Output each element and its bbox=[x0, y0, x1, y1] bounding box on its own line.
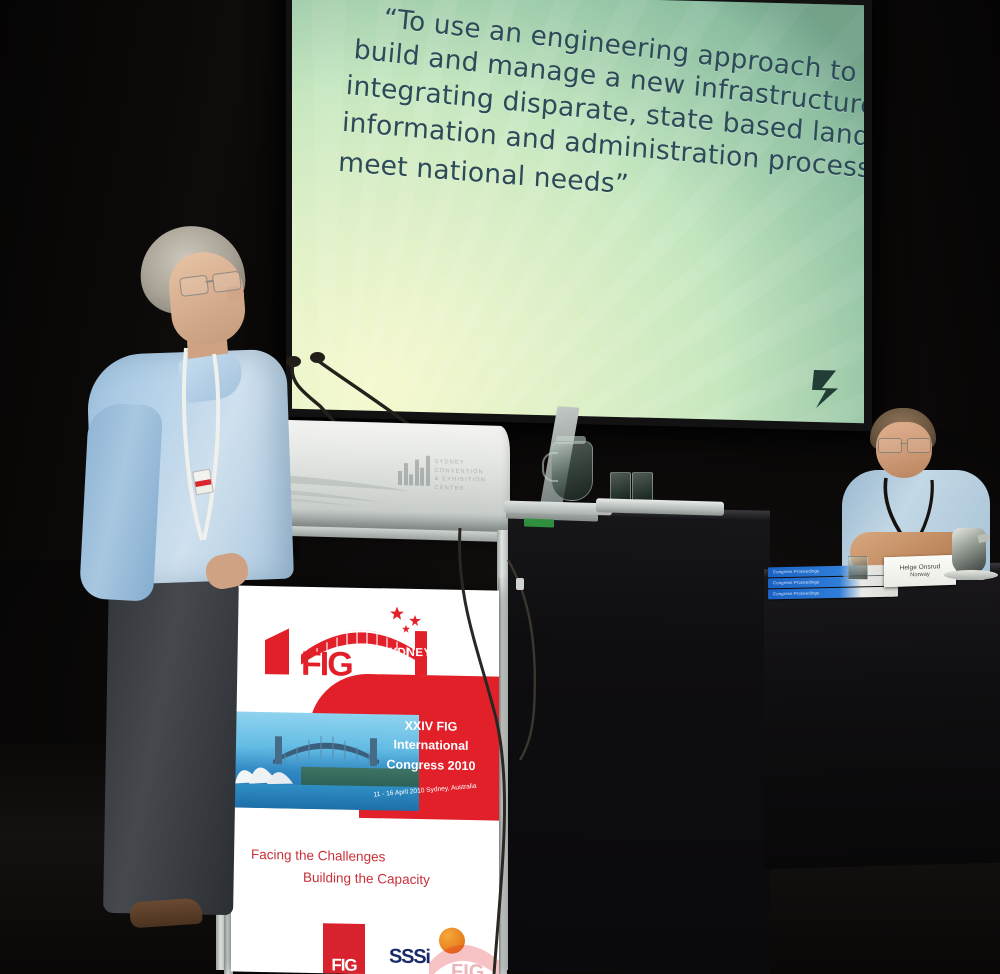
fig-logo-sydney-label: SYDNEY bbox=[381, 646, 432, 659]
slide-quote-text: “To use an engineering approach to desig… bbox=[316, 0, 847, 191]
book-1-spine: Congress Proceedings bbox=[773, 568, 819, 574]
fig-sponsor-logo: FIG bbox=[323, 923, 365, 974]
panelist-glasses-bridge bbox=[900, 443, 907, 444]
presenter bbox=[84, 224, 324, 964]
presentation-photo-scene: “To use an engineering approach to desig… bbox=[0, 0, 1000, 974]
water-jug-lid bbox=[556, 436, 586, 444]
venue-logo-text: SYDNEY CONVENTION & EXHIBITION CENTRE bbox=[435, 456, 486, 494]
sssi-sponsor-logo: SSSi bbox=[389, 945, 430, 969]
panel-drinking-glass bbox=[848, 556, 868, 580]
cable-clip bbox=[496, 560, 556, 620]
book-2-spine: Congress Proceedings bbox=[773, 579, 819, 585]
venue-logo-bars bbox=[398, 455, 430, 486]
water-jug-handle bbox=[542, 452, 558, 482]
panel-draped-table bbox=[764, 563, 1000, 870]
venue-logo-line-4: CENTRE bbox=[435, 484, 486, 494]
panelist-glasses-left-lens bbox=[878, 438, 902, 453]
sssi-wordmark: SSSi bbox=[389, 945, 430, 969]
panelist-name-card: Helge Onsrud Norway bbox=[884, 555, 956, 588]
book-3: Congress Proceedings bbox=[768, 587, 898, 600]
panelist-glasses bbox=[878, 438, 932, 453]
presenter-glasses-right-lens bbox=[212, 271, 242, 293]
book-3-spine: Congress Proceedings bbox=[773, 590, 819, 596]
name-card-country: Norway bbox=[910, 572, 930, 579]
water-jug bbox=[551, 441, 593, 501]
presenter-badge bbox=[192, 469, 214, 496]
name-card-name: Helge Onsrud bbox=[900, 563, 941, 571]
presenter-glasses-left-lens bbox=[179, 275, 209, 297]
presenter-trousers bbox=[103, 573, 239, 915]
laptop-green-tag bbox=[524, 518, 554, 527]
venue-logo: SYDNEY CONVENTION & EXHIBITION CENTRE bbox=[398, 455, 486, 494]
metal-carafe bbox=[952, 528, 986, 574]
presenter-lanyard bbox=[140, 344, 260, 584]
proceedings-book-stack: Congress Proceedings Congress Proceeding… bbox=[768, 565, 898, 604]
carafe-saucer bbox=[944, 570, 998, 580]
panelist-glasses-right-lens bbox=[907, 438, 931, 453]
fig-logo-year-label: 2010 bbox=[395, 659, 415, 668]
presenter-shoe bbox=[129, 898, 203, 929]
